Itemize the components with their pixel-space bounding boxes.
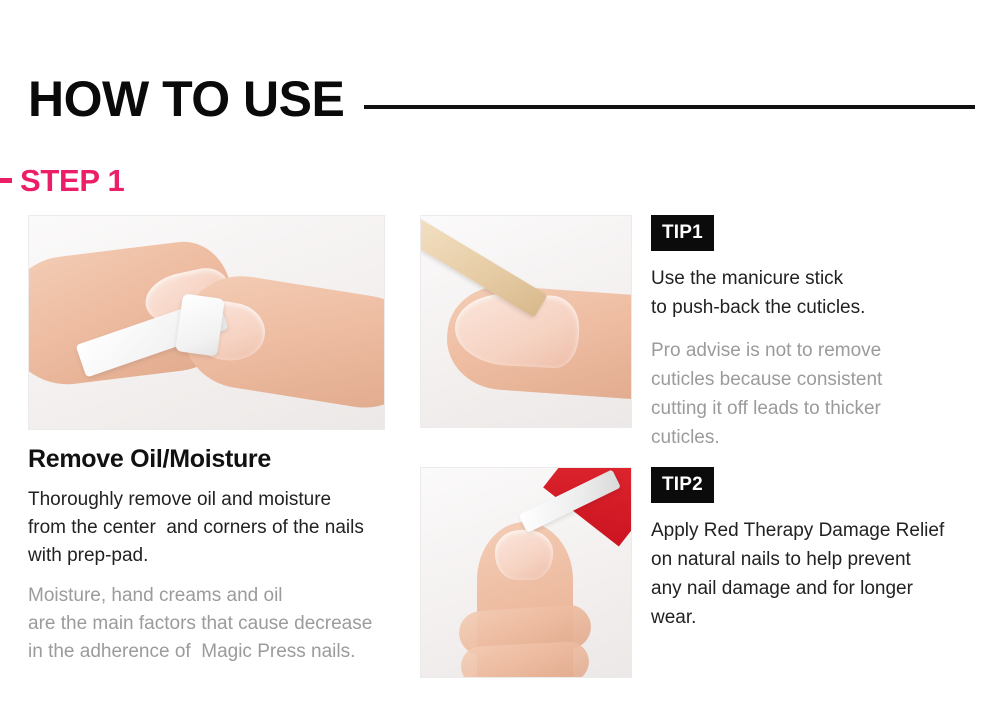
step-description-block: Remove Oil/Moisture Thoroughly remove oi… [28, 446, 428, 666]
manicure-stick-photo [420, 215, 632, 428]
dash-icon [0, 178, 12, 183]
prep-pad-photo [28, 215, 385, 430]
text-line: cuticles. [651, 423, 991, 452]
prep-pad-icon [175, 293, 225, 356]
text-line: cuticles because consistent [651, 365, 991, 394]
text-line: Thoroughly remove oil and moisture [28, 486, 428, 514]
how-to-use-page: HOW TO USE STEP 1 Remove Oil/Moisture [0, 0, 1000, 710]
text-line: Use the manicure stick [651, 264, 991, 293]
step-label-group: STEP 1 [0, 163, 124, 197]
text-line: with prep-pad. [28, 542, 428, 570]
tip2-primary-text: Apply Red Therapy Damage Relief on natur… [651, 516, 991, 632]
text-line: in the adherence of Magic Press nails. [28, 638, 428, 666]
tip-block-2: TIP2 Apply Red Therapy Damage Relief on … [651, 467, 991, 632]
step-secondary-text: Moisture, hand creams and oil are the ma… [28, 582, 428, 666]
text-line: cutting it off leads to thicker [651, 394, 991, 423]
tip1-badge: TIP1 [651, 215, 714, 251]
text-line: Moisture, hand creams and oil [28, 582, 428, 610]
page-title: HOW TO USE [28, 74, 344, 124]
header-divider-rule [364, 105, 975, 109]
tip1-primary-text: Use the manicure stick to push-back the … [651, 264, 991, 322]
text-line: to push-back the cuticles. [651, 293, 991, 322]
step-primary-text: Thoroughly remove oil and moisture from … [28, 486, 428, 570]
text-line: wear. [651, 603, 991, 632]
text-line: any nail damage and for longer [651, 574, 991, 603]
finger-icon [460, 641, 590, 678]
nail-icon [495, 530, 553, 580]
text-line: from the center and corners of the nails [28, 514, 428, 542]
text-line: Pro advise is not to remove [651, 336, 991, 365]
step-label: STEP 1 [20, 165, 124, 196]
text-line: Apply Red Therapy Damage Relief [651, 516, 991, 545]
text-line: are the main factors that cause decrease [28, 610, 428, 638]
tip1-secondary-text: Pro advise is not to remove cuticles bec… [651, 336, 991, 452]
page-header: HOW TO USE [28, 68, 975, 130]
red-therapy-photo [420, 467, 632, 678]
section-heading: Remove Oil/Moisture [28, 446, 428, 474]
tip2-badge: TIP2 [651, 467, 714, 503]
text-line: on natural nails to help prevent [651, 545, 991, 574]
tip-block-1: TIP1 Use the manicure stick to push-back… [651, 215, 991, 452]
